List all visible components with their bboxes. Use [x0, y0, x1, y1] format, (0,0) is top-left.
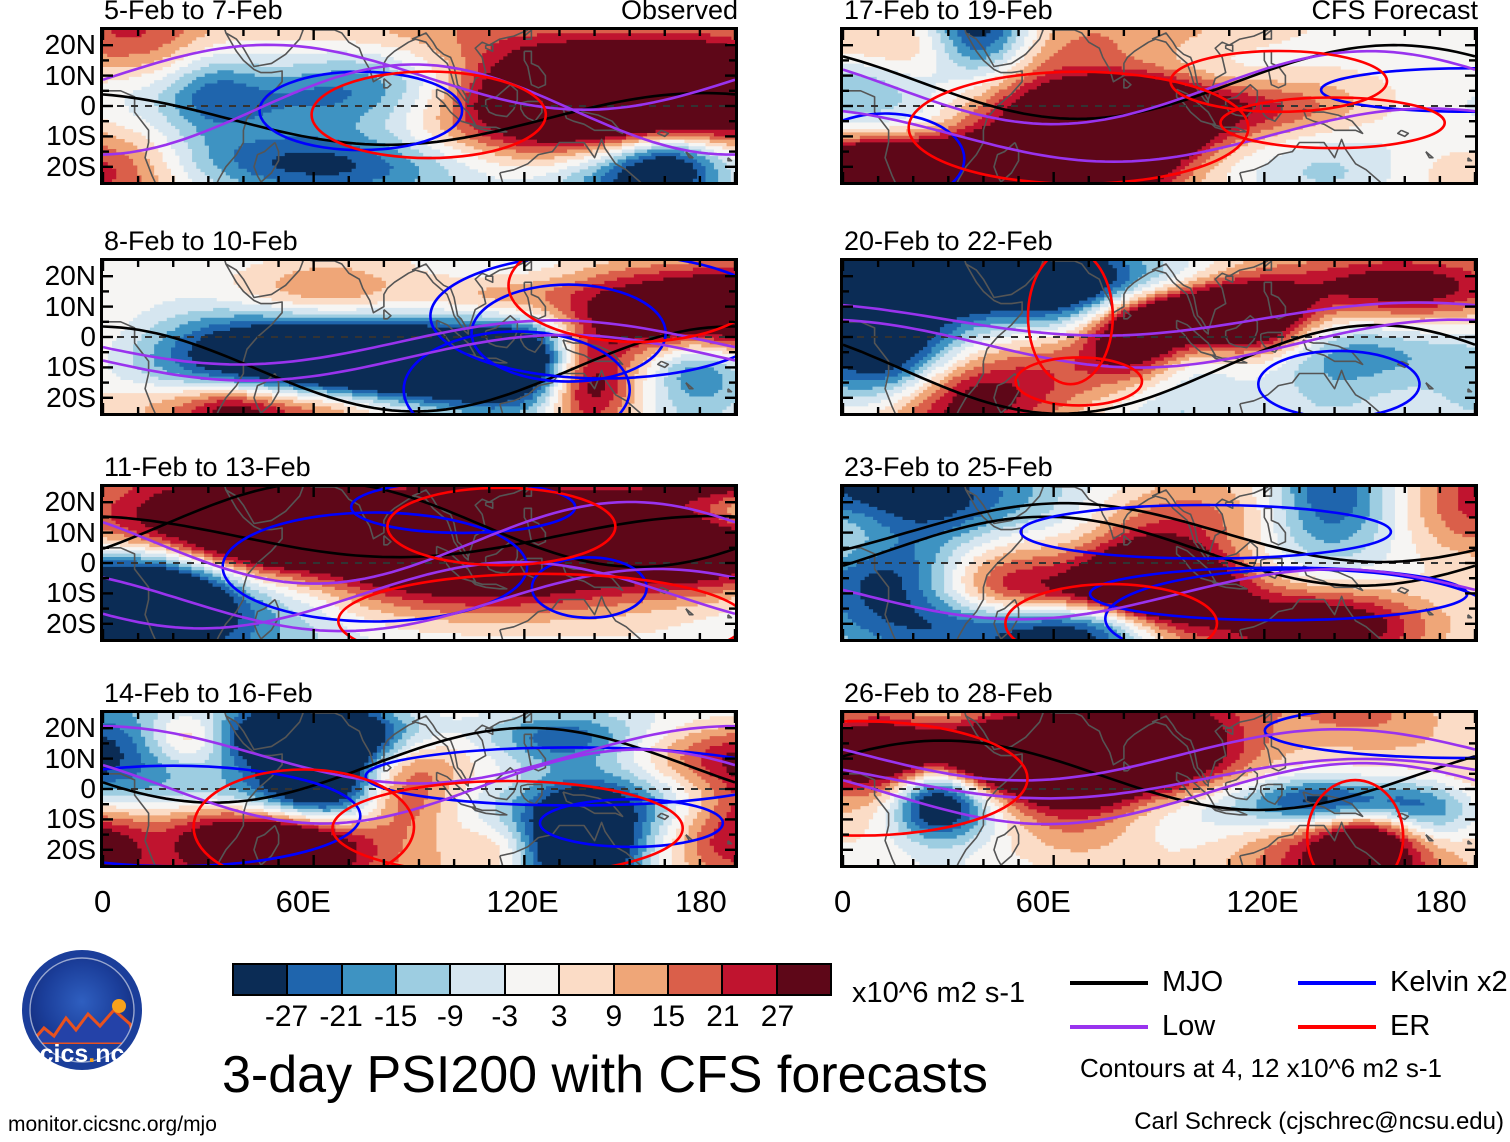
- y-tick-0: 0: [80, 323, 96, 351]
- y-tick-10S: 10S: [46, 353, 96, 381]
- y-tick-10N: 10N: [45, 62, 96, 90]
- colorbar-bin-3: [397, 965, 451, 994]
- legend-label-mjo: MJO: [1162, 968, 1223, 997]
- cics-nc-logo: cics.nc: [18, 948, 146, 1076]
- x-tick-0: 0: [94, 886, 111, 917]
- y-tick-20N: 20N: [45, 714, 96, 742]
- y-tick-10N: 10N: [45, 519, 96, 547]
- column-header-cfs-forecast: CFS Forecast: [840, 0, 1478, 24]
- panel-title-p3: 11-Feb to 13-Feb: [104, 454, 311, 481]
- legend-item-low: Low: [1070, 1012, 1215, 1041]
- legend-label-kelvin: Kelvin x2: [1390, 968, 1508, 997]
- legend-item-er: ER: [1298, 1012, 1430, 1041]
- colorbar-bin-4: [451, 965, 505, 994]
- colorbar-bin-7: [615, 965, 669, 994]
- legend-label-low: Low: [1162, 1012, 1215, 1041]
- y-tick-0: 0: [80, 775, 96, 803]
- x-tick-180: 180: [675, 886, 727, 917]
- y-tick-20N: 20N: [45, 262, 96, 290]
- x-axis-labels-right: 060E120E180: [840, 886, 1478, 926]
- x-tick-0: 0: [834, 886, 851, 917]
- colorbar-bin-2: [343, 965, 397, 994]
- colorbar-bin-0: [234, 965, 288, 994]
- colorbar-bin-9: [723, 965, 777, 994]
- y-tick-0: 0: [80, 549, 96, 577]
- y-axis-labels-p3: 20N10N010S20S: [4, 484, 96, 642]
- colorbar-units-label: x10^6 m2 s-1: [852, 979, 1025, 1008]
- x-tick-180: 180: [1415, 886, 1467, 917]
- colorbar-bin-6: [560, 965, 614, 994]
- colorbar-bin-8: [669, 965, 723, 994]
- y-tick-20S: 20S: [46, 384, 96, 412]
- x-tick-60E: 60E: [276, 886, 331, 917]
- colorbar-tick--21: -21: [319, 1002, 362, 1032]
- colorbar-tick--15: -15: [374, 1002, 417, 1032]
- y-tick-10S: 10S: [46, 122, 96, 150]
- colorbar-tick-3: 3: [551, 1002, 568, 1032]
- y-tick-20S: 20S: [46, 836, 96, 864]
- colorbar-tick--3: -3: [491, 1002, 518, 1032]
- contour-levels-note: Contours at 4, 12 x10^6 m2 s-1: [1080, 1055, 1442, 1081]
- y-tick-20N: 20N: [45, 488, 96, 516]
- author-credit: Carl Schreck (cjschrec@ncsu.edu): [1110, 1110, 1504, 1134]
- y-tick-10S: 10S: [46, 805, 96, 833]
- y-tick-20S: 20S: [46, 610, 96, 638]
- y-axis-labels-p4: 20N10N010S20S: [4, 710, 96, 868]
- y-tick-20S: 20S: [46, 153, 96, 181]
- colorbar: -27-21-15-9-339152127: [232, 963, 832, 1059]
- colorbar-tick--27: -27: [265, 1002, 308, 1032]
- logo-wordmark: cics.nc: [40, 1040, 125, 1068]
- legend-swatch-low: [1070, 1025, 1148, 1029]
- panel-title-p2: 8-Feb to 10-Feb: [104, 228, 298, 255]
- map-panel-p1: [100, 27, 738, 185]
- colorbar-bin-5: [506, 965, 560, 994]
- site-url-footer: monitor.cicsnc.org/mjo: [8, 1114, 217, 1135]
- colorbar-tick-15: 15: [652, 1002, 685, 1032]
- x-tick-120E: 120E: [486, 886, 558, 917]
- y-tick-10N: 10N: [45, 745, 96, 773]
- legend-swatch-mjo: [1070, 981, 1148, 985]
- colorbar-tick-21: 21: [706, 1002, 739, 1032]
- map-panel-p3: [100, 484, 738, 642]
- map-panel-p6: [840, 258, 1478, 416]
- colorbar-tick-9: 9: [605, 1002, 622, 1032]
- colorbar-tick-27: 27: [761, 1002, 794, 1032]
- y-tick-10N: 10N: [45, 293, 96, 321]
- map-panel-p7: [840, 484, 1478, 642]
- y-axis-labels-p1: 20N10N010S20S: [4, 27, 96, 185]
- map-panel-p5: [840, 27, 1478, 185]
- map-panel-p8: [840, 710, 1478, 868]
- page-title: 3-day PSI200 with CFS forecasts: [222, 1049, 988, 1101]
- x-tick-120E: 120E: [1226, 886, 1298, 917]
- colorbar-tick-labels: -27-21-15-9-339152127: [232, 1002, 832, 1034]
- y-tick-0: 0: [80, 92, 96, 120]
- y-tick-20N: 20N: [45, 31, 96, 59]
- colorbar-swatches: [232, 963, 832, 996]
- map-panel-p2: [100, 258, 738, 416]
- panel-title-p7: 23-Feb to 25-Feb: [844, 454, 1053, 481]
- column-header-observed: Observed: [100, 0, 738, 24]
- y-axis-labels-p2: 20N10N010S20S: [4, 258, 96, 416]
- x-axis-labels-left: 060E120E180: [100, 886, 738, 926]
- y-tick-10S: 10S: [46, 579, 96, 607]
- x-tick-60E: 60E: [1016, 886, 1071, 917]
- colorbar-bin-1: [288, 965, 342, 994]
- colorbar-tick--9: -9: [437, 1002, 464, 1032]
- panel-title-p4: 14-Feb to 16-Feb: [104, 680, 313, 707]
- panel-title-p6: 20-Feb to 22-Feb: [844, 228, 1053, 255]
- legend-label-er: ER: [1390, 1012, 1430, 1041]
- contour-legend: MJO Kelvin x2 Low ER: [1070, 968, 1510, 1048]
- panel-title-p8: 26-Feb to 28-Feb: [844, 680, 1053, 707]
- map-panel-p4: [100, 710, 738, 868]
- legend-item-kelvin: Kelvin x2: [1298, 968, 1508, 997]
- legend-swatch-kelvin: [1298, 981, 1376, 985]
- legend-swatch-er: [1298, 1025, 1376, 1029]
- legend-item-mjo: MJO: [1070, 968, 1223, 997]
- colorbar-bin-10: [778, 965, 830, 994]
